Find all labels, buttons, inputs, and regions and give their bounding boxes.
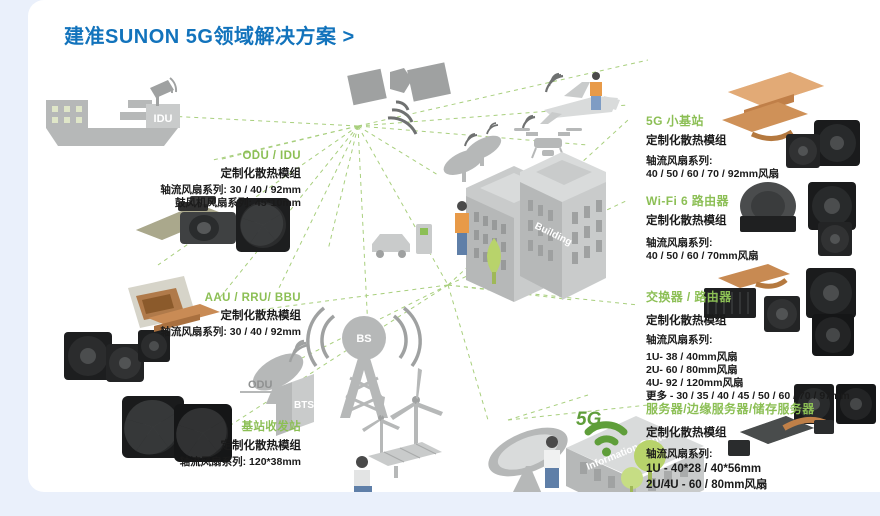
solar-panel-icon [368,442,442,478]
label-sub-aau: 定制化散热模组 [86,307,301,323]
label-line-servers-1: 1U - 40*28 / 40*56mm [646,461,815,477]
person-on-plane-icon [590,72,602,110]
product-wifi6-fan-2 [818,222,852,256]
content-card: 建准SUNON 5G领域解决方案 > [28,0,880,492]
label-block-odu-idu: ODU / IDU 定制化散热模组 轴流风扇系列: 30 / 40 / 92mm… [86,150,301,210]
label-line-wifi6-0: 轴流风扇系列: [646,237,759,250]
label-line-odu-idu-1: 鼓风机风扇系列: 45*10mm [86,197,301,210]
label-sub-bts: 定制化散热模组 [86,437,301,453]
label-line-odu-idu-0: 轴流风扇系列: 30 / 40 / 92mm [86,184,301,197]
label-block-bts: 基站收发站 定制化散热模组 轴流风扇系列: 120*38mm [86,418,301,469]
label-line-switch-2: 2U- 60 / 80mm风扇 [646,364,850,377]
ship-icon [46,78,180,146]
label-sub-servers: 定制化散热模组 [646,424,815,440]
label-sub-wifi6: 定制化散热模组 [646,212,759,228]
label-line-5g-1: 40 / 50 / 60 / 70 / 92mm风扇 [646,168,779,181]
label-block-aau: AAU / RRU/ BBU 定制化散热模组 轴流风扇系列: 30 / 40 /… [86,292,301,339]
product-5g-fan-2 [786,134,820,168]
label-line-bts-0: 轴流风扇系列: 120*38mm [86,456,301,469]
label-block-servers: 服务器/边缘服务器/储存服务器 定制化散热模组 轴流风扇系列: 1U - 40*… [646,400,815,492]
product-odu-blower [180,212,236,244]
label-block-5g-small-cell: 5G 小基站 定制化散热模组 轴流风扇系列: 40 / 50 / 60 / 70… [646,112,779,181]
product-5g-fan-1 [814,120,860,166]
ev-car-icon [372,234,410,258]
label-head-switch-router: 交换器 / 路由器 [646,288,850,305]
label-line-servers-0: 轴流风扇系列: [646,448,815,461]
label-line-aau-0: 轴流风扇系列: 30 / 40 / 92mm [86,326,301,339]
label-block-wifi6: Wi-Fi 6 路由器 定制化散热模组 轴流风扇系列: 40 / 50 / 60… [646,192,759,263]
label-head-servers: 服务器/边缘服务器/储存服务器 [646,400,815,417]
label-head-5g-small-cell: 5G 小基站 [646,112,779,129]
label-line-wifi6-1: 40 / 50 / 60 / 70mm风扇 [646,250,759,263]
label-sub-5g-small-cell: 定制化散热模组 [646,132,779,148]
large-dish-icon [482,418,575,492]
person-infocenter-icon [544,436,560,488]
product-aau-fan-large [64,332,112,380]
drone-icon [514,128,582,158]
label-line-switch-0: 轴流风扇系列: [646,334,850,347]
label-sub-odu-idu: 定制化散热模组 [86,165,301,181]
charging-station-icon [416,224,432,254]
drone-signal-icon [523,116,535,128]
person-sitting-icon [354,456,372,492]
bts-box-label: BTS [294,400,314,411]
label-head-wifi6: Wi-Fi 6 路由器 [646,192,759,209]
bs-tower-label: BS [356,333,371,345]
label-line-switch-3: 4U- 92 / 120mm风扇 [646,377,850,390]
label-block-switch-router: 交换器 / 路由器 定制化散热模组 轴流风扇系列: 1U- 38 / 40mm风… [646,288,850,403]
label-line-servers-2: 2U/4U - 60 / 80mm风扇 [646,477,815,492]
label-sub-switch-router: 定制化散热模组 [646,312,850,328]
label-head-odu-idu: ODU / IDU [86,150,301,162]
label-head-aau: AAU / RRU/ BBU [86,292,301,304]
label-head-bts: 基站收发站 [86,418,301,434]
5g-label: 5G [576,409,602,430]
bs-tower-icon [340,316,388,418]
label-line-switch-1: 1U- 38 / 40mm风扇 [646,351,850,364]
label-line-5g-0: 轴流风扇系列: [646,155,779,168]
odu-dish-label: ODU [248,379,273,391]
idu-ship-label: IDU [154,113,173,125]
airplane-icon [540,82,620,124]
page-root: 建准SUNON 5G领域解决方案 > [0,0,880,516]
